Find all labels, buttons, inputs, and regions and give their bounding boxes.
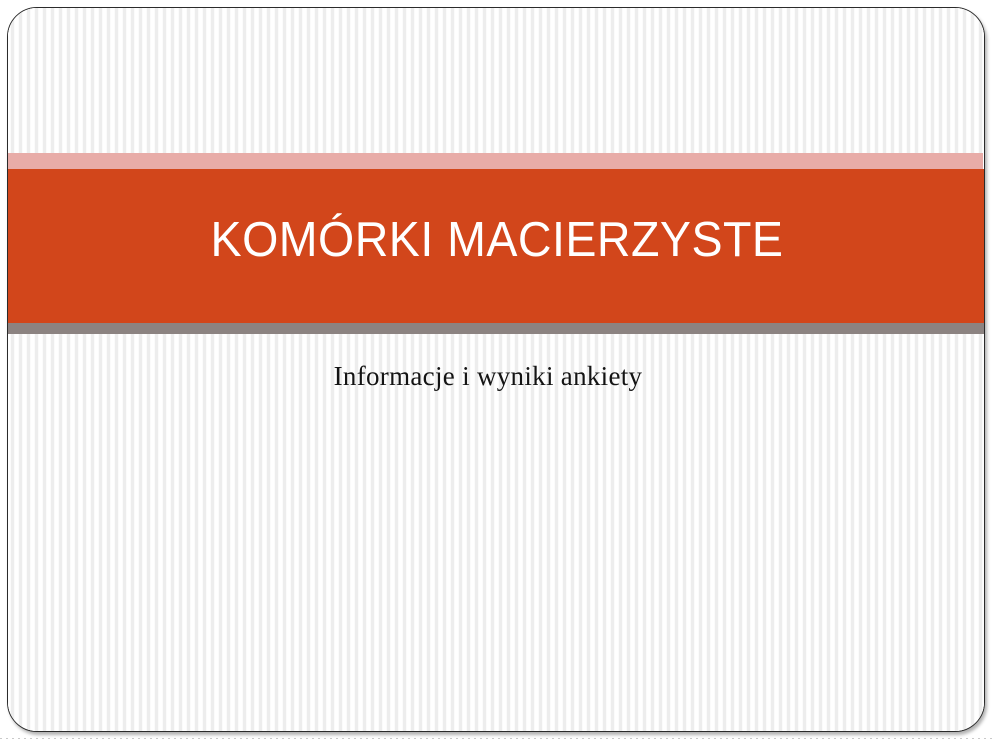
accent-band (8, 153, 983, 169)
title-banner: KOMÓRKI MACIERZYSTE (8, 153, 985, 339)
slide-subtitle: Informacje i wyniki ankiety (8, 360, 968, 392)
page-root: KOMÓRKI MACIERZYSTE Informacje i wyniki … (0, 0, 992, 744)
slide-body-content (68, 408, 928, 698)
footer-band (8, 323, 985, 334)
presentation-slide[interactable]: KOMÓRKI MACIERZYSTE Informacje i wyniki … (7, 7, 985, 732)
slide-title: KOMÓRKI MACIERZYSTE (32, 200, 961, 280)
page-separator (0, 738, 992, 739)
